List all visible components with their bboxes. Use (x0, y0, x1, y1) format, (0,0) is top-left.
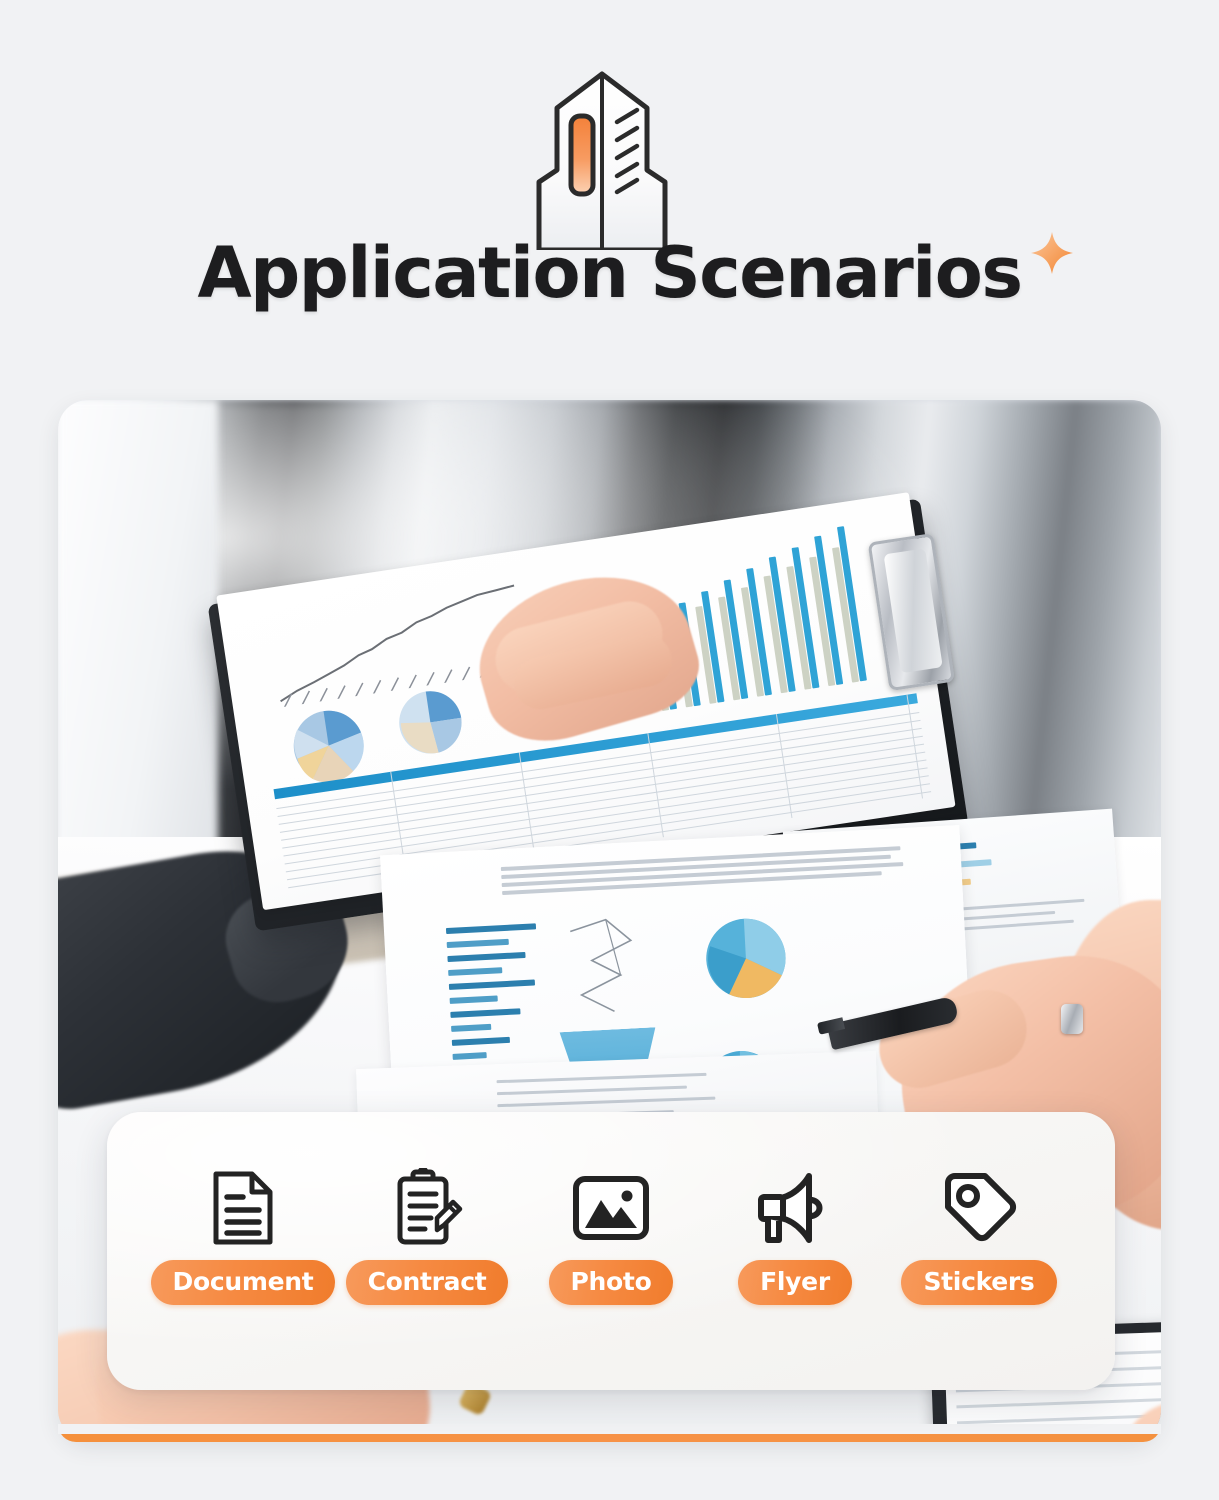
feature-pill-stickers[interactable]: Stickers (901, 1260, 1056, 1305)
price-tag-icon (941, 1170, 1017, 1246)
image-picture-icon (571, 1170, 651, 1246)
feature-pill-document[interactable]: Document (151, 1260, 336, 1305)
feature-item-stickers[interactable]: Stickers (887, 1170, 1071, 1305)
building-skyscraper-icon (495, 70, 710, 250)
feature-list: Document Contract (151, 1170, 1071, 1305)
feature-item-contract[interactable]: Contract (335, 1170, 519, 1305)
feature-item-document[interactable]: Document (151, 1170, 335, 1305)
document-page-icon (210, 1170, 276, 1246)
sparkle-star-icon (1029, 230, 1075, 276)
feature-pill-photo[interactable]: Photo (549, 1260, 674, 1305)
feature-item-photo[interactable]: Photo (519, 1170, 703, 1305)
megaphone-icon (755, 1170, 835, 1246)
page-header: Application Scenarios (0, 0, 1219, 390)
application-types-card: Document Contract (107, 1112, 1115, 1390)
feature-item-flyer[interactable]: Flyer (703, 1170, 887, 1305)
feature-pill-flyer[interactable]: Flyer (738, 1260, 852, 1305)
clipboard-pencil-icon (391, 1170, 463, 1246)
feature-pill-contract[interactable]: Contract (346, 1260, 509, 1305)
